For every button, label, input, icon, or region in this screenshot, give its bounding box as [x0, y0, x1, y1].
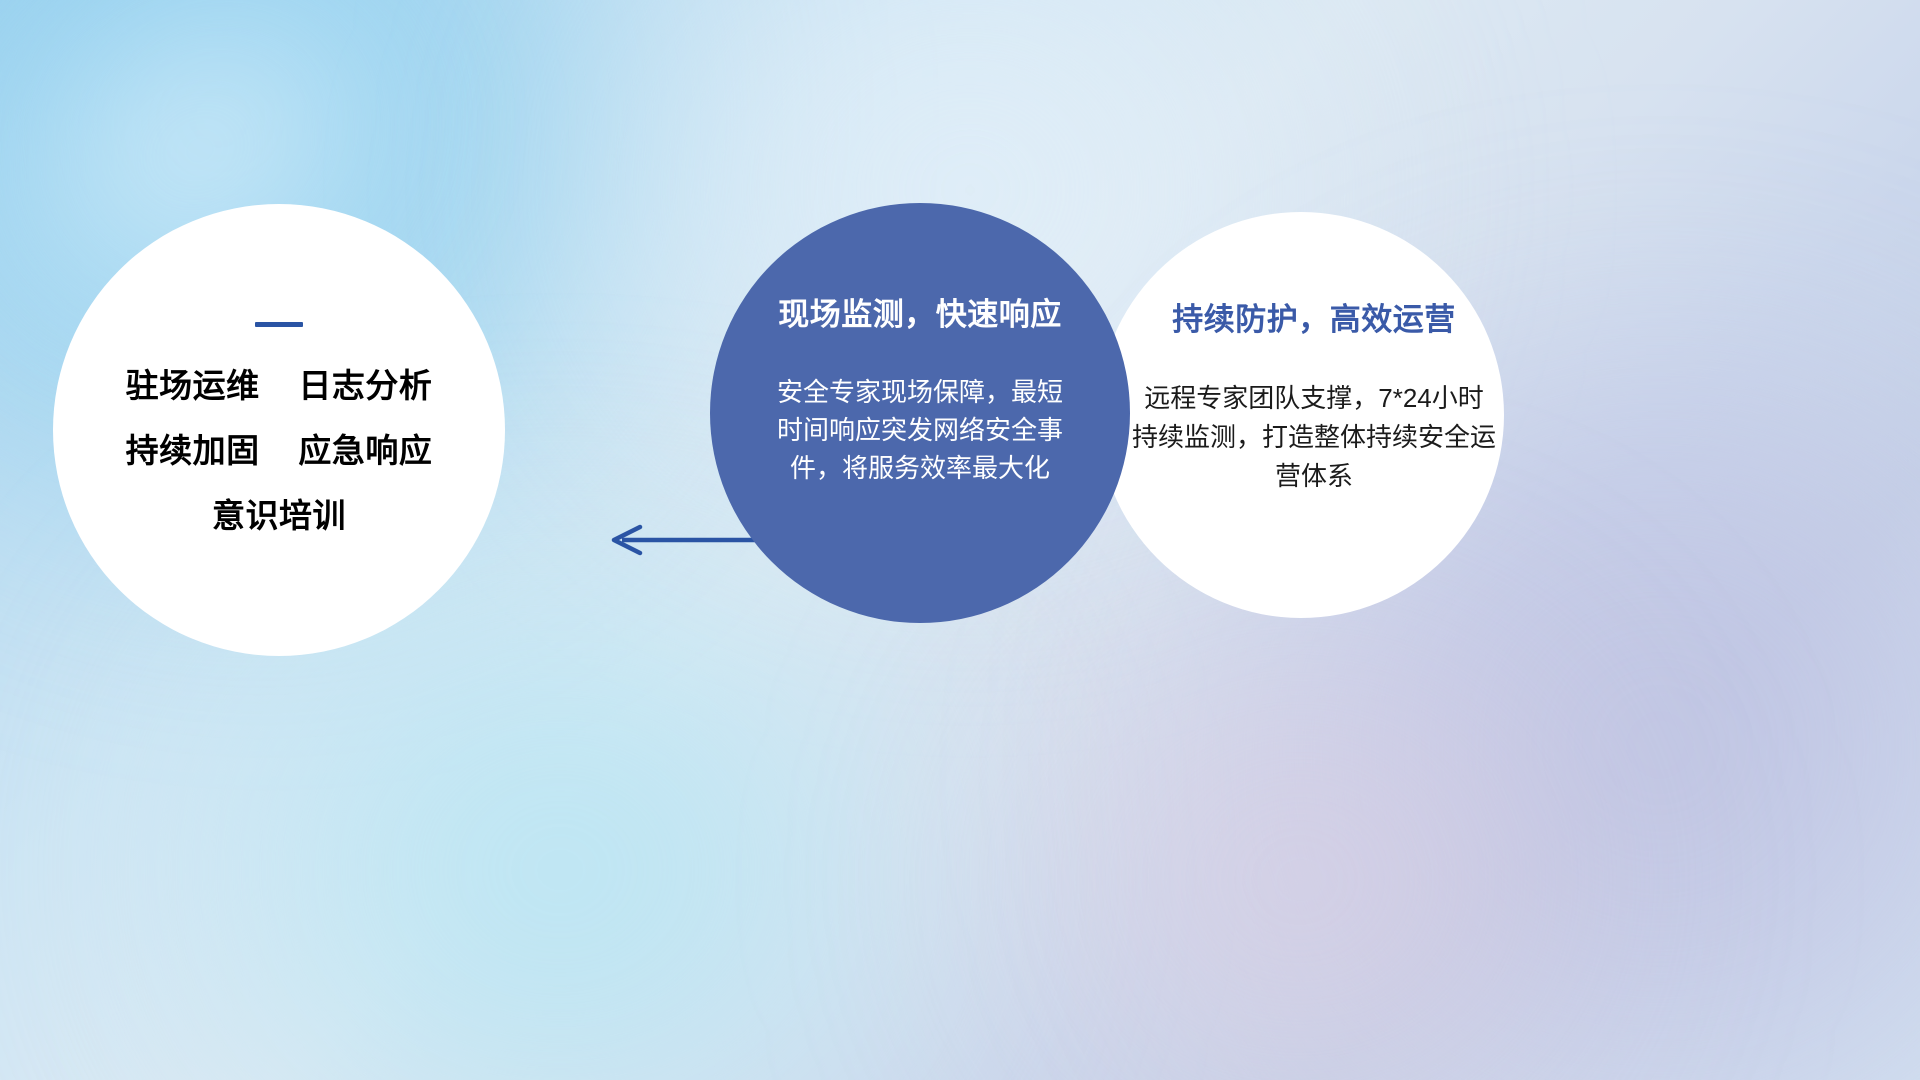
continuous-protection-title: 持续防护，高效运营: [1146, 304, 1456, 335]
onsite-monitoring-title: 现场监测，快速响应: [778, 299, 1062, 330]
slide-canvas: 驻场运维 日志分析 持续加固 应急响应 意识培训 现场监测，快速响应 安全专家现…: [0, 0, 1920, 1080]
divider-dash-icon: [255, 322, 303, 327]
capability-circle-content: 驻场运维 日志分析 持续加固 应急响应 意识培训: [53, 204, 505, 656]
onsite-monitoring-body: 安全专家现场保障，最短时间响应突发网络安全事件，将服务效率最大化: [770, 374, 1070, 488]
capability-line-3: 意识培训: [126, 499, 433, 532]
capability-line-2: 持续加固 应急响应: [126, 434, 433, 467]
capability-list: 驻场运维 日志分析 持续加固 应急响应 意识培训: [126, 369, 433, 532]
continuous-protection-body: 远程专家团队支撑，7*24小时持续监测，打造整体持续安全运营体系: [1106, 379, 1496, 496]
onsite-monitoring-content: 现场监测，快速响应 安全专家现场保障，最短时间响应突发网络安全事件，将服务效率最…: [710, 203, 1130, 623]
continuous-protection-content: 持续防护，高效运营 远程专家团队支撑，7*24小时持续监测，打造整体持续安全运营…: [1098, 212, 1504, 618]
capability-line-1: 驻场运维 日志分析: [126, 369, 433, 402]
